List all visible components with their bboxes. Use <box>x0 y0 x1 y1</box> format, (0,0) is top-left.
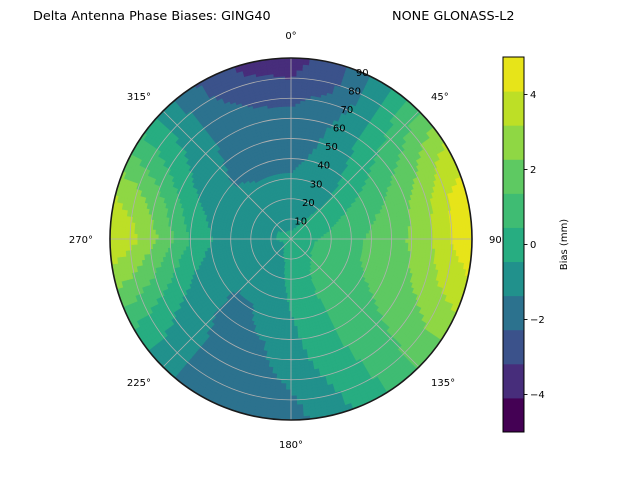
contour-cell <box>219 241 222 244</box>
contour-cell <box>369 236 372 239</box>
contour-cell <box>372 239 375 242</box>
contour-cell <box>291 317 294 320</box>
page-title-left: Delta Antenna Phase Biases: GING40 <box>33 9 271 24</box>
contour-cell <box>291 314 294 317</box>
contour-cell <box>286 167 289 170</box>
contour-cell <box>213 239 216 242</box>
contour-cell <box>291 320 294 323</box>
figure-canvas: Delta Antenna Phase Biases: GING40 NONE … <box>0 0 640 480</box>
contour-cell <box>286 164 289 167</box>
contour-cell <box>291 161 294 164</box>
contour-cell <box>366 239 369 242</box>
contour-cell <box>288 314 291 317</box>
contour-cell <box>213 236 216 239</box>
contour-cell <box>288 317 291 320</box>
contour-cell <box>372 236 375 239</box>
contour-cell <box>216 242 219 245</box>
contour-cell <box>369 233 372 236</box>
contour-cell <box>288 158 291 161</box>
contour-cell <box>372 233 375 236</box>
contour-cell <box>294 317 297 320</box>
contour-cell <box>294 311 297 314</box>
contour-cell <box>291 158 294 161</box>
contour-cell <box>294 314 297 317</box>
contour-cell <box>285 158 288 161</box>
contour-cell <box>210 242 213 245</box>
contour-cell <box>288 320 291 323</box>
page-title-right: NONE GLONASS-L2 <box>392 9 515 24</box>
contour-cell <box>294 320 297 323</box>
contour-cell <box>207 242 210 245</box>
contour-cell <box>363 234 366 237</box>
contour-cell <box>288 161 291 164</box>
contour-cell <box>213 242 216 245</box>
contour-cell <box>210 239 213 242</box>
contour-cell <box>286 161 289 164</box>
contour-cell <box>293 308 296 311</box>
contour-cell <box>291 155 294 158</box>
contour-cell <box>360 234 363 237</box>
contour-cell <box>207 239 210 242</box>
contour-cell <box>366 234 369 237</box>
contour-cell <box>210 236 213 239</box>
contour-cell <box>366 236 369 239</box>
contour-cell <box>369 239 372 242</box>
